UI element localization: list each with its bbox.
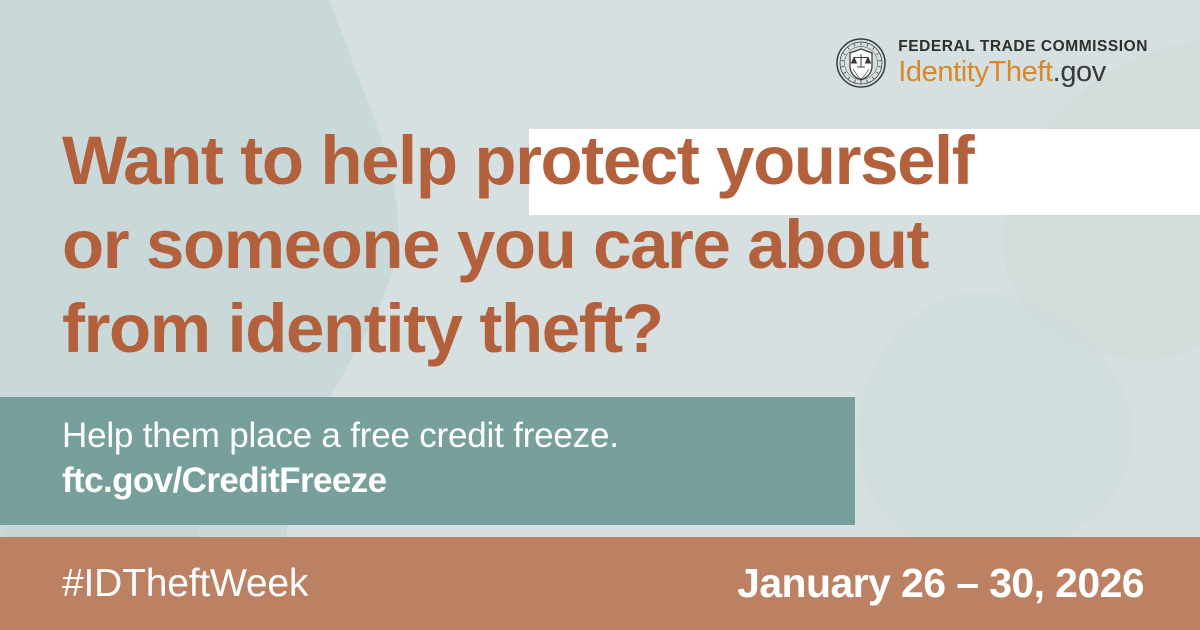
- ftc-seal-icon: [836, 38, 886, 88]
- headline-line-1-plain: Want to help: [62, 122, 474, 199]
- identitytheft-gov-wordmark[interactable]: IdentityTheft.gov: [898, 58, 1148, 87]
- identity-theft-week-banner: FEDERAL TRADE COMMISSION IdentityTheft.g…: [0, 0, 1200, 630]
- callout-message: Help them place a free credit freeze.: [62, 413, 855, 458]
- logo-text-column: FEDERAL TRADE COMMISSION IdentityTheft.g…: [898, 39, 1148, 88]
- headline-line-1-highlighted: protect yourself: [474, 122, 973, 199]
- agency-name: FEDERAL TRADE COMMISSION: [898, 39, 1148, 55]
- wordmark-tld: .gov: [1053, 56, 1106, 88]
- identitytheft-gov-logo-lockup[interactable]: FEDERAL TRADE COMMISSION IdentityTheft.g…: [836, 38, 1148, 88]
- footer-bar: #IDTheftWeek January 26 – 30, 2026: [0, 537, 1200, 630]
- wordmark-brand: IdentityTheft: [898, 56, 1052, 88]
- headline: Want to help protect yourself or someone…: [62, 119, 1162, 371]
- callout-url-link[interactable]: ftc.gov/CreditFreeze: [62, 458, 855, 504]
- call-to-action-band: Help them place a free credit freeze. ft…: [0, 397, 855, 525]
- headline-line-1: Want to help protect yourself: [62, 119, 1162, 203]
- headline-line-2: or someone you care about: [62, 203, 1162, 287]
- headline-line-3: from identity theft?: [62, 287, 1162, 371]
- event-dates: January 26 – 30, 2026: [737, 563, 1144, 604]
- campaign-hashtag[interactable]: #IDTheftWeek: [62, 564, 308, 603]
